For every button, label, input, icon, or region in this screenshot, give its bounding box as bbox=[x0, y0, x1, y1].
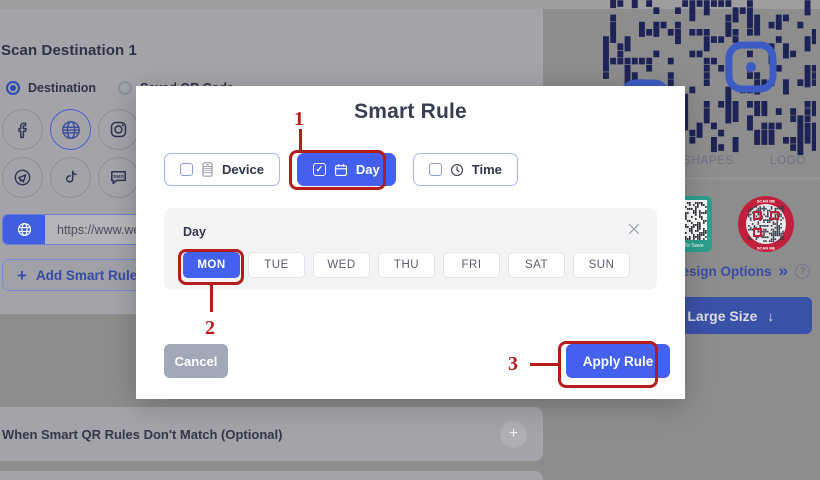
chip-device-label: Device bbox=[222, 162, 264, 177]
facebook-icon[interactable] bbox=[2, 109, 43, 150]
device-checkbox[interactable] bbox=[180, 163, 193, 176]
tiktok-icon[interactable] bbox=[50, 157, 91, 198]
radio-destination-label: Destination bbox=[28, 81, 96, 95]
svg-text:SCAN ME: SCAN ME bbox=[738, 196, 758, 197]
day-button-sat[interactable]: SAT bbox=[508, 252, 565, 278]
day-button-mon[interactable]: MON bbox=[183, 252, 240, 278]
screen: Scan Destination 1 Destination Saved QR … bbox=[0, 0, 820, 480]
chip-time[interactable]: Time bbox=[413, 153, 518, 186]
chip-day-label: Day bbox=[356, 162, 380, 177]
globe-icon bbox=[3, 215, 45, 244]
day-button-sun[interactable]: SUN bbox=[573, 252, 630, 278]
section-no-match-label: When Smart QR Rules Don't Match (Optiona… bbox=[2, 427, 282, 442]
time-checkbox[interactable] bbox=[429, 163, 442, 176]
clock-icon bbox=[450, 163, 464, 177]
chip-device[interactable]: Device bbox=[164, 153, 280, 186]
arrow-down-icon: ↓ bbox=[767, 308, 774, 324]
close-icon[interactable] bbox=[626, 221, 642, 237]
day-button-fri[interactable]: FRI bbox=[443, 252, 500, 278]
sms-icon[interactable]: SMS bbox=[98, 157, 139, 198]
day-button-thu[interactable]: THU bbox=[378, 252, 435, 278]
device-icon bbox=[201, 162, 214, 177]
svg-text:SCAN ME: SCAN ME bbox=[757, 246, 776, 251]
channel-icon-grid: SMS bbox=[2, 109, 139, 198]
plus-icon[interactable]: + bbox=[500, 421, 527, 448]
day-panel-title: Day bbox=[183, 225, 206, 239]
page-title: Scan Destination 1 bbox=[1, 42, 137, 59]
radio-destination[interactable]: Destination bbox=[6, 81, 96, 95]
chip-time-label: Time bbox=[472, 162, 502, 177]
section-design-qr[interactable]: Design, Color and Decorate QR Code + bbox=[0, 471, 543, 480]
add-smart-rule-label: Add Smart Rule bbox=[36, 268, 137, 283]
day-buttons: MON TUE WED THU FRI SAT SUN bbox=[183, 252, 630, 278]
radio-destination-indicator bbox=[6, 81, 20, 95]
annotation-leader-2 bbox=[210, 285, 213, 312]
rule-type-chips: Device ✓ Day bbox=[164, 153, 518, 186]
day-checkbox[interactable]: ✓ bbox=[313, 163, 326, 176]
annotation-number-2: 2 bbox=[205, 317, 215, 340]
modal-title: Smart Rule bbox=[136, 100, 685, 124]
question-mark-icon[interactable]: ? bbox=[795, 264, 810, 279]
instagram-icon[interactable] bbox=[98, 109, 139, 150]
annotation-leader-3 bbox=[530, 363, 559, 366]
cancel-button[interactable]: Cancel bbox=[164, 344, 228, 378]
day-button-wed[interactable]: WED bbox=[313, 252, 370, 278]
double-chevron-right-icon: » bbox=[779, 261, 788, 281]
tab-logo[interactable]: LOGO bbox=[770, 155, 806, 167]
apply-rule-button[interactable]: Apply Rule bbox=[566, 344, 670, 378]
calendar-icon bbox=[334, 163, 348, 177]
section-no-match[interactable]: When Smart QR Rules Don't Match (Optiona… bbox=[0, 407, 543, 461]
preset-red-circular-scan-me[interactable]: SCAN ME SCAN ME SCAN ME bbox=[738, 196, 794, 252]
smart-rule-modal: Smart Rule Device ✓ bbox=[136, 86, 685, 399]
day-button-tue[interactable]: TUE bbox=[248, 252, 305, 278]
telegram-icon[interactable] bbox=[2, 157, 43, 198]
design-options-link[interactable]: Design Options » ? bbox=[672, 261, 810, 281]
annotation-number-3: 3 bbox=[508, 353, 518, 376]
website-globe-icon[interactable] bbox=[50, 109, 91, 150]
day-selection-panel: Day MON TUE WED THU FRI SAT SUN bbox=[164, 208, 657, 290]
svg-text:SMS: SMS bbox=[113, 174, 124, 180]
preset-red-caption: SCAN ME bbox=[757, 199, 776, 204]
annotation-leader-1 bbox=[299, 129, 302, 151]
radio-saved-qr-indicator bbox=[118, 81, 132, 95]
design-options-label: Design Options bbox=[672, 264, 772, 279]
plus-icon: + bbox=[17, 267, 27, 284]
annotation-number-1: 1 bbox=[294, 108, 304, 131]
check-icon: ✓ bbox=[316, 165, 324, 174]
chip-day[interactable]: ✓ Day bbox=[297, 153, 396, 186]
tab-shapes[interactable]: SHAPES bbox=[683, 155, 734, 167]
